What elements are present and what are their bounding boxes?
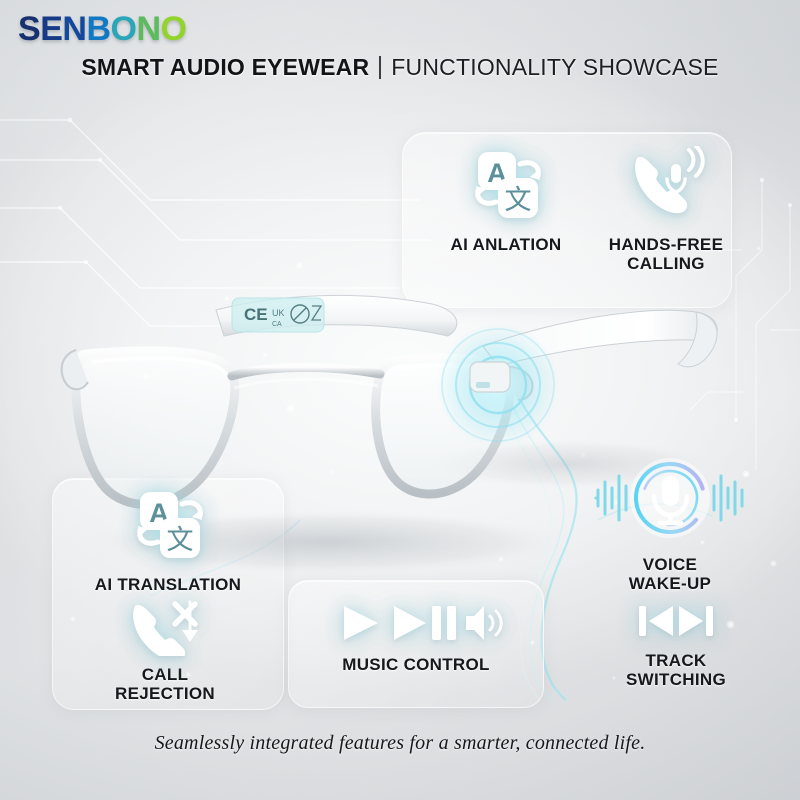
track-skip-icon bbox=[633, 600, 719, 642]
title-bold: SMART AUDIO EYEWEAR bbox=[81, 54, 369, 80]
feature-label: TRACK SWITCHING bbox=[596, 651, 756, 689]
logo-letter: N bbox=[136, 12, 160, 46]
tagline-text: Seamlessly integrated features for a sma… bbox=[155, 732, 646, 754]
title-divider bbox=[379, 56, 381, 79]
feature-label: HANDS-FREE CALLING bbox=[592, 235, 740, 273]
previous-track-icon bbox=[639, 606, 673, 636]
svg-text:CE: CE bbox=[244, 305, 268, 324]
svg-text:UK: UK bbox=[272, 308, 285, 318]
microphone-icon bbox=[586, 450, 754, 546]
feature-label: AI TRANSLATION bbox=[58, 575, 278, 594]
logo-letter: N bbox=[62, 12, 86, 46]
ce-label: CE UK CA bbox=[232, 298, 324, 332]
logo-letter: O bbox=[161, 12, 187, 46]
phone-mic-icon bbox=[623, 146, 709, 226]
flow-arrow-icon bbox=[178, 600, 202, 646]
feature-music-control[interactable]: MUSIC CONTROL bbox=[296, 600, 536, 674]
waveform-right bbox=[714, 476, 742, 520]
feature-hands-free-calling[interactable]: HANDS-FREE CALLING bbox=[592, 146, 740, 273]
feature-track-switching[interactable]: TRACK SWITCHING bbox=[596, 600, 756, 689]
brand-logo: SENBONO bbox=[18, 12, 186, 46]
translate-icon: A 文 bbox=[464, 146, 548, 226]
feature-label: CALL REJECTION bbox=[70, 665, 260, 703]
next-track-icon bbox=[679, 606, 713, 636]
feature-label: AI ANLATION bbox=[432, 235, 580, 254]
footer-tagline: Seamlessly integrated features for a sma… bbox=[0, 732, 800, 755]
logo-letter: O bbox=[111, 12, 137, 46]
translate-glyph-b: 文 bbox=[167, 525, 194, 556]
feature-ai-anlation[interactable]: A 文 AI ANLATION bbox=[432, 146, 580, 254]
feature-ai-translation[interactable]: A 文 AI TRANSLATION bbox=[58, 486, 278, 594]
volume-icon bbox=[466, 606, 501, 640]
translate-icon: A 文 bbox=[126, 486, 210, 566]
feature-label: VOICE WAKE-UP bbox=[586, 555, 754, 593]
translate-glyph-b: 文 bbox=[505, 185, 532, 216]
page-header: SENBONO SMART AUDIO EYEWEARFUNCTIONALITY… bbox=[0, 0, 800, 96]
music-control-icon bbox=[326, 600, 506, 646]
feature-voice-wake-up[interactable]: VOICE WAKE-UP bbox=[586, 450, 754, 593]
logo-letter: E bbox=[40, 12, 62, 46]
logo-letter: S bbox=[18, 12, 40, 46]
waveform-left bbox=[596, 476, 626, 520]
play-pause-icon bbox=[394, 606, 456, 640]
feature-label: MUSIC CONTROL bbox=[296, 655, 536, 674]
svg-text:CA: CA bbox=[272, 321, 282, 328]
title-light: FUNCTIONALITY SHOWCASE bbox=[391, 54, 718, 80]
page-title: SMART AUDIO EYEWEARFUNCTIONALITY SHOWCAS… bbox=[0, 54, 800, 81]
feature-call-rejection[interactable]: CALL REJECTION bbox=[70, 598, 260, 703]
logo-letter: B bbox=[86, 12, 110, 46]
